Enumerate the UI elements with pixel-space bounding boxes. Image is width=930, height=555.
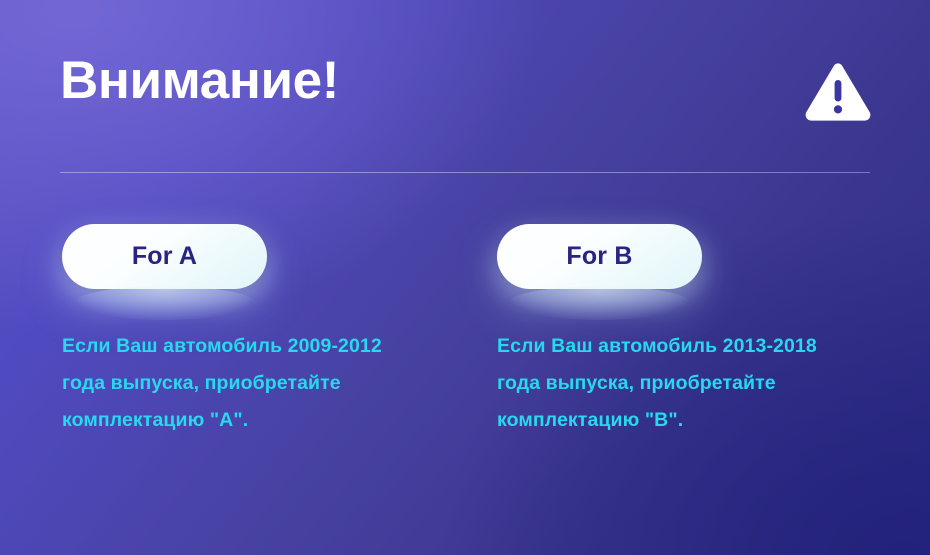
option-b-description-line-1: Если Ваш автомобиль 2013-2018 — [497, 328, 887, 365]
for-b-button-label: For B — [566, 242, 632, 271]
option-column-a: For A Если Ваш автомобиль 2009-2012 года… — [62, 224, 267, 289]
option-column-b: For B Если Ваш автомобиль 2013-2018 года… — [497, 224, 702, 289]
for-b-button[interactable]: For B — [497, 224, 702, 289]
for-a-button[interactable]: For A — [62, 224, 267, 289]
option-b-description: Если Ваш автомобиль 2013-2018 года выпус… — [497, 328, 887, 439]
header-divider — [60, 172, 870, 173]
option-a-description-line-1: Если Ваш автомобиль 2009-2012 — [62, 328, 452, 365]
option-a-description-line-3: комплектацию "A". — [62, 402, 452, 439]
for-a-button-label: For A — [132, 242, 197, 271]
option-a-description: Если Ваш автомобиль 2009-2012 года выпус… — [62, 328, 452, 439]
page-title: Внимание! — [60, 48, 339, 114]
banner-header: Внимание! — [60, 48, 872, 144]
option-a-description-line-2: года выпуска, приобретайте — [62, 365, 452, 402]
option-b-description-line-2: года выпуска, приобретайте — [497, 365, 887, 402]
warning-triangle-icon — [804, 62, 872, 124]
option-columns: For A Если Ваш автомобиль 2009-2012 года… — [62, 224, 868, 289]
option-b-description-line-3: комплектацию "B". — [497, 402, 887, 439]
attention-banner: Внимание! For A Если Ваш автомобиль 2009… — [0, 0, 930, 555]
